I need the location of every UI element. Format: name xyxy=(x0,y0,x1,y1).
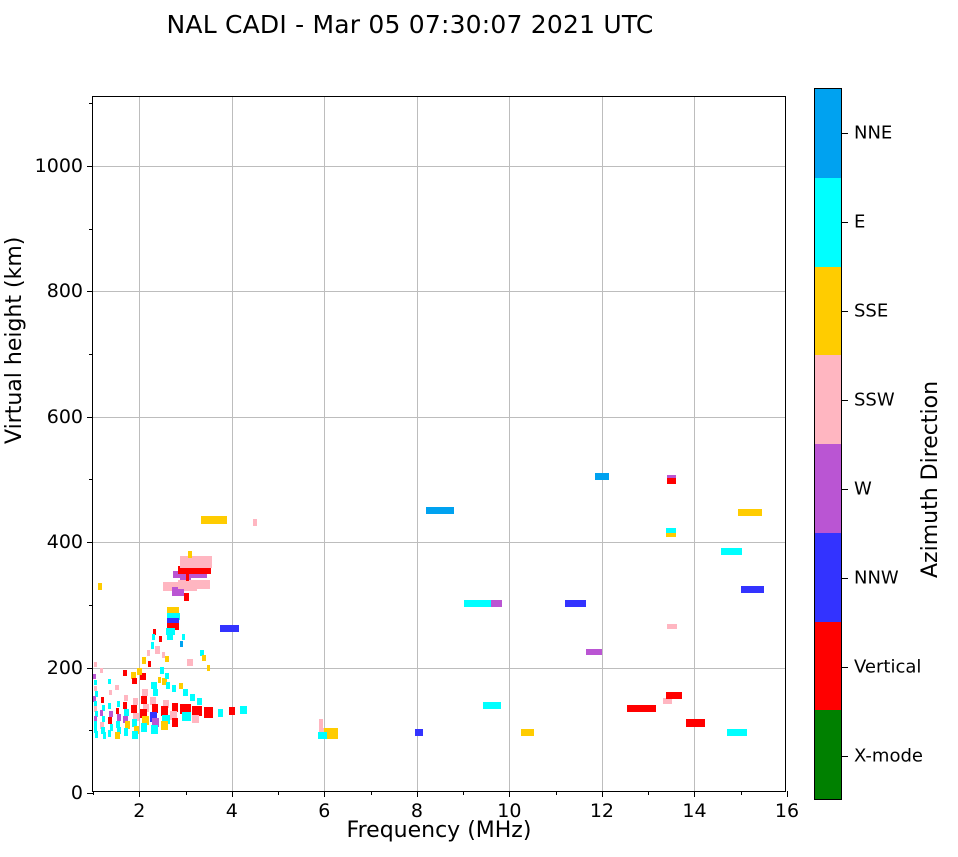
echo-mark xyxy=(721,548,742,555)
colorbar-label-nne: NNE xyxy=(854,122,892,143)
echo-mark xyxy=(183,689,188,696)
echo-mark xyxy=(415,729,423,736)
echo-mark xyxy=(667,624,677,629)
x-tick xyxy=(232,791,233,797)
echo-mark xyxy=(153,689,159,696)
echo-mark xyxy=(179,683,183,689)
colorbar-label-x-mode: X-mode xyxy=(854,745,923,766)
y-tick-minor xyxy=(89,103,93,104)
echo-mark xyxy=(124,728,129,736)
echo-mark xyxy=(155,646,160,654)
echo-mark xyxy=(627,705,656,712)
echo-mark xyxy=(132,731,138,739)
echo-mark xyxy=(586,649,602,655)
echo-mark xyxy=(165,656,168,662)
echo-mark xyxy=(123,670,127,676)
echo-mark xyxy=(186,573,190,581)
echo-mark xyxy=(108,730,112,737)
echo-mark xyxy=(666,692,682,699)
colorbar-tick xyxy=(842,489,848,490)
colorbar-segment-sse xyxy=(815,267,841,356)
colorbar-tick xyxy=(842,756,848,757)
x-tick xyxy=(139,791,140,797)
echo-mark xyxy=(426,507,454,514)
echo-mark xyxy=(686,719,705,727)
echo-mark xyxy=(565,600,586,607)
y-tick xyxy=(87,542,93,543)
echo-mark xyxy=(197,698,202,705)
echo-mark xyxy=(132,678,138,684)
colorbar-label-nnw: NNW xyxy=(854,567,899,588)
colorbar-segment-nne xyxy=(815,89,841,178)
colorbar-segment-w xyxy=(815,444,841,533)
colorbar-label-e: E xyxy=(854,211,865,232)
echo-mark xyxy=(94,680,97,685)
y-tick-label: 800 xyxy=(47,280,83,302)
echo-mark xyxy=(115,732,119,739)
echo-mark xyxy=(167,632,173,640)
echo-mark xyxy=(161,721,167,730)
x-tick-minor xyxy=(463,791,464,795)
echo-mark xyxy=(491,600,501,607)
echo-mark xyxy=(166,682,170,689)
echo-mark xyxy=(151,682,157,689)
plot-area: 24681012141602004006008001000 xyxy=(92,96,786,792)
y-tick-label: 200 xyxy=(47,657,83,679)
echo-mark xyxy=(159,636,162,642)
echo-mark xyxy=(595,473,610,480)
echo-mark xyxy=(663,698,672,704)
echo-mark xyxy=(108,703,111,709)
echo-mark xyxy=(180,556,212,563)
echo-mark xyxy=(94,662,97,667)
y-tick xyxy=(87,166,93,167)
echo-mark xyxy=(207,665,210,671)
x-tick-minor xyxy=(556,791,557,795)
echo-mark xyxy=(147,650,150,656)
echo-mark xyxy=(240,706,246,714)
echo-mark xyxy=(188,551,192,558)
colorbar-segment-ssw xyxy=(815,355,841,444)
echo-mark xyxy=(108,679,111,684)
x-tick xyxy=(694,791,695,797)
colorbar xyxy=(814,88,842,800)
echo-mark xyxy=(151,725,158,734)
colorbar-tick xyxy=(842,222,848,223)
echo-mark xyxy=(190,694,196,701)
y-tick xyxy=(87,291,93,292)
echo-mark xyxy=(180,641,183,647)
y-tick-label: 1000 xyxy=(35,155,83,177)
echo-mark xyxy=(172,718,178,727)
colorbar-tick xyxy=(842,133,848,134)
echo-mark xyxy=(666,533,676,537)
x-tick-minor xyxy=(741,791,742,795)
echo-mark xyxy=(101,697,104,703)
echo-mark xyxy=(738,509,761,516)
x-tick-minor xyxy=(186,791,187,795)
x-tick-minor xyxy=(278,791,279,795)
figure-title: NAL CADI - Mar 05 07:30:07 2021 UTC xyxy=(0,10,820,39)
echo-layer xyxy=(93,97,785,791)
echo-mark xyxy=(108,717,112,724)
y-tick-label: 0 xyxy=(71,782,83,804)
y-axis-title: Virtual height (km) xyxy=(2,237,27,444)
echo-mark xyxy=(201,516,226,524)
echo-mark xyxy=(93,674,96,679)
echo-mark xyxy=(100,710,103,716)
colorbar-segment-x-mode xyxy=(815,710,841,799)
x-tick xyxy=(602,791,603,797)
echo-mark xyxy=(142,689,148,696)
echo-mark xyxy=(667,478,676,484)
y-tick-minor xyxy=(89,354,93,355)
echo-mark xyxy=(148,661,152,667)
echo-mark xyxy=(483,702,502,709)
echo-mark xyxy=(218,709,223,717)
x-tick-minor xyxy=(648,791,649,795)
echo-mark xyxy=(151,642,154,649)
echo-mark xyxy=(115,685,118,690)
echo-mark xyxy=(182,712,191,721)
x-tick xyxy=(324,791,325,797)
y-tick-minor xyxy=(89,730,93,731)
echo-mark xyxy=(741,586,764,593)
colorbar-label-sse: SSE xyxy=(854,300,888,321)
x-tick-minor xyxy=(371,791,372,795)
echo-mark xyxy=(178,580,210,589)
echo-mark xyxy=(202,655,205,661)
x-tick-minor xyxy=(93,791,94,795)
echo-mark xyxy=(109,690,112,695)
echo-mark xyxy=(100,668,103,673)
colorbar-tick xyxy=(842,311,848,312)
echo-mark xyxy=(187,659,193,666)
echo-mark xyxy=(318,732,327,739)
y-tick-minor xyxy=(89,479,93,480)
echo-mark xyxy=(253,519,258,526)
colorbar-label-ssw: SSW xyxy=(854,389,895,410)
y-tick-minor xyxy=(89,229,93,230)
echo-mark xyxy=(220,625,239,632)
echo-mark xyxy=(182,634,185,640)
echo-mark xyxy=(117,701,121,707)
echo-mark xyxy=(152,634,155,640)
echo-mark xyxy=(133,698,138,705)
echo-mark xyxy=(95,731,98,738)
echo-mark xyxy=(98,583,101,590)
echo-mark xyxy=(141,723,147,732)
y-tick xyxy=(87,793,93,794)
echo-mark xyxy=(464,600,493,607)
x-tick xyxy=(787,791,788,797)
colorbar-tick xyxy=(842,400,848,401)
echo-mark xyxy=(727,729,746,736)
echo-mark xyxy=(204,707,213,718)
colorbar-title: Azimuth Direction xyxy=(918,381,943,578)
echo-mark xyxy=(103,732,107,739)
echo-mark xyxy=(172,685,177,692)
colorbar-tick xyxy=(842,667,848,668)
y-tick-minor xyxy=(89,605,93,606)
colorbar-segment-nnw xyxy=(815,533,841,622)
ionogram-figure: NAL CADI - Mar 05 07:30:07 2021 UTC 2468… xyxy=(0,0,958,857)
echo-mark xyxy=(229,707,235,715)
echo-mark xyxy=(158,677,162,683)
y-tick xyxy=(87,417,93,418)
x-axis-title: Frequency (MHz) xyxy=(92,818,786,843)
echo-mark xyxy=(521,729,534,736)
echo-mark xyxy=(137,668,142,675)
y-tick-label: 400 xyxy=(47,531,83,553)
echo-mark xyxy=(184,593,189,601)
colorbar-segment-e xyxy=(815,178,841,267)
colorbar-label-w: W xyxy=(854,478,872,499)
colorbar-tick xyxy=(842,578,848,579)
echo-mark xyxy=(192,715,199,723)
x-tick xyxy=(509,791,510,797)
x-tick xyxy=(417,791,418,797)
echo-mark xyxy=(165,673,169,679)
colorbar-label-vertical: Vertical xyxy=(854,656,921,677)
y-tick xyxy=(87,668,93,669)
echo-mark xyxy=(123,702,127,709)
echo-mark xyxy=(124,695,128,701)
colorbar-segment-vertical xyxy=(815,622,841,711)
echo-mark xyxy=(142,657,146,664)
echo-mark xyxy=(160,667,164,674)
y-tick-label: 600 xyxy=(47,406,83,428)
